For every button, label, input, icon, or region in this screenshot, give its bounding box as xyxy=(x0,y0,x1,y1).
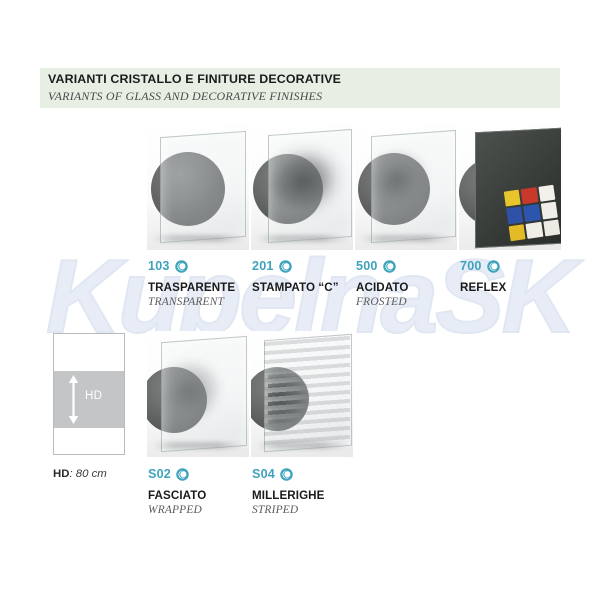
surface-shadow xyxy=(361,235,451,242)
surface-shadow xyxy=(153,235,243,242)
page-title: VARIANTI CRISTALLO E FINITURE DECORATIVE xyxy=(48,72,341,86)
photo-millerighe xyxy=(251,331,353,457)
code-row: 103 xyxy=(148,258,235,274)
finish-name: FASCIATO xyxy=(148,489,206,502)
hd-double-arrow-icon xyxy=(68,375,79,424)
section-header-band: VARIANTI CRISTALLO E FINITURE DECORATIVE… xyxy=(40,68,560,108)
surface-shadow xyxy=(153,442,243,449)
glass-sample-photo-201[interactable] xyxy=(251,124,353,250)
finish-code: S04 xyxy=(252,467,275,481)
photo-acidato xyxy=(355,124,457,250)
finish-code: S02 xyxy=(148,467,171,481)
swatch xyxy=(526,221,543,238)
finish-code: 700 xyxy=(460,259,482,273)
finish-code: 103 xyxy=(148,259,170,273)
caption-S02: S02 FASCIATO WRAPPED xyxy=(148,466,206,516)
photo-fasciato xyxy=(147,331,249,457)
photo-reflex xyxy=(459,124,561,250)
surface-shadow xyxy=(257,235,347,242)
finish-name: ACIDATO xyxy=(356,281,408,294)
color-swatch-grid xyxy=(504,185,560,241)
drop-icon xyxy=(175,260,188,273)
code-row: S02 xyxy=(148,466,206,482)
surface-shadow xyxy=(257,442,347,449)
hd-caption-value: : 80 cm xyxy=(69,468,106,480)
caption-201: 201 STAMPATO “C” xyxy=(252,258,339,296)
finish-subtitle: TRANSPARENT xyxy=(148,296,235,308)
caption-700: 700 REFLEX xyxy=(460,258,506,296)
drop-icon xyxy=(279,260,292,273)
caption-103: 103 TRASPARENTE TRANSPARENT xyxy=(148,258,235,308)
code-row: S04 xyxy=(252,466,325,482)
photo-transparente xyxy=(147,124,249,250)
glass-sample-photo-S02[interactable] xyxy=(147,331,249,457)
frost-diffusion xyxy=(371,130,454,241)
finish-subtitle: WRAPPED xyxy=(148,504,206,516)
finish-code: 500 xyxy=(356,259,378,273)
finish-name: STAMPATO “C” xyxy=(252,281,339,294)
finish-code: 201 xyxy=(252,259,274,273)
caption-500: 500 ACIDATO FROSTED xyxy=(356,258,408,308)
hd-dimension-diagram: HD xyxy=(53,333,125,455)
glass-sample-photo-700[interactable] xyxy=(459,124,561,250)
hd-caption-key: HD xyxy=(53,468,69,480)
page-subtitle: VARIANTS OF GLASS AND DECORATIVE FINISHE… xyxy=(48,89,322,104)
swatch xyxy=(543,219,560,236)
drop-icon xyxy=(383,260,396,273)
finish-subtitle: FROSTED xyxy=(356,296,408,308)
code-row: 500 xyxy=(356,258,408,274)
code-row: 201 xyxy=(252,258,339,274)
swatch xyxy=(521,187,538,204)
finish-subtitle: STRIPED xyxy=(252,504,325,516)
hd-arrow-label: HD xyxy=(85,390,102,402)
swatch xyxy=(504,190,521,207)
wrap-diffusion xyxy=(161,336,245,450)
glass-sample-photo-S04[interactable] xyxy=(251,331,353,457)
swatch xyxy=(523,204,540,221)
swatch xyxy=(538,185,555,202)
swatch xyxy=(540,202,557,219)
glass-sheet xyxy=(160,131,246,243)
catalog-page: KupelnaSK VARIANTI CRISTALLO E FINITURE … xyxy=(0,0,600,600)
hd-caption: HD: 80 cm xyxy=(53,468,107,480)
finish-name: TRASPARENTE xyxy=(148,281,235,294)
stripe-refraction xyxy=(268,367,324,429)
code-row: 700 xyxy=(460,258,506,274)
drop-icon xyxy=(487,260,500,273)
swatch xyxy=(506,207,523,224)
caption-S04: S04 MILLERIGHE STRIPED xyxy=(252,466,325,516)
glass-sample-photo-103[interactable] xyxy=(147,124,249,250)
drop-icon xyxy=(176,468,189,481)
frost-diffusion xyxy=(268,129,350,241)
photo-stampato-c xyxy=(251,124,353,250)
finish-name: REFLEX xyxy=(460,281,506,294)
finish-name: MILLERIGHE xyxy=(252,489,325,502)
glass-sample-photo-500[interactable] xyxy=(355,124,457,250)
swatch xyxy=(509,224,526,241)
drop-icon xyxy=(280,468,293,481)
